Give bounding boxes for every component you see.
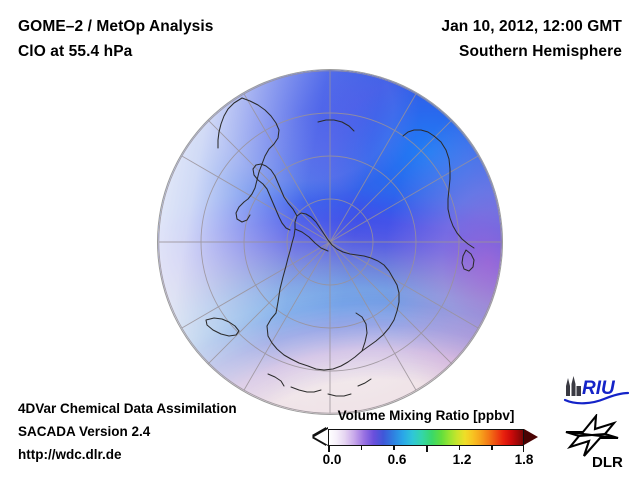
timestamp-label: Jan 10, 2012, 12:00 GMT [292, 14, 622, 39]
riu-logo: RIU [562, 374, 630, 406]
footer-credits: 4DVar Chemical Data Assimilation SACADA … [18, 397, 237, 466]
globe-limb-shading [158, 70, 502, 414]
version-label: SACADA Version 2.4 [18, 420, 237, 443]
colorbar-gradient [328, 429, 524, 446]
dlr-logo: DLR [562, 414, 632, 470]
method-label: 4DVar Chemical Data Assimilation [18, 397, 237, 420]
colorbar-label-3: 1.8 [515, 452, 534, 467]
colorbar-over-arrow-icon [524, 429, 538, 445]
dlr-wordmark: DLR [592, 454, 623, 470]
colorbar-label-0: 0.0 [323, 452, 342, 467]
colorbar-title: Volume Mixing Ratio [ppbv] [310, 408, 542, 423]
globe-map [158, 70, 502, 414]
colorbar-under-arrow-icon [314, 429, 328, 445]
website-link[interactable]: http://wdc.dlr.de [18, 443, 237, 466]
globe-disc [158, 70, 502, 414]
colorbar-row [310, 428, 542, 448]
riu-skyline-icon [566, 376, 581, 396]
colorbar-tick-labels: 0.0 0.6 1.2 1.8 [310, 452, 542, 472]
hemisphere-label: Southern Hemisphere [292, 39, 622, 64]
header-right-block: Jan 10, 2012, 12:00 GMT Southern Hemisph… [292, 14, 622, 64]
colorbar-label-2: 1.2 [453, 452, 472, 467]
colorbar: Volume Mixing Ratio [ppbv] 0.0 0.6 1.2 1… [310, 408, 542, 472]
colorbar-label-1: 0.6 [388, 452, 407, 467]
dlr-wing-icon [566, 416, 618, 456]
